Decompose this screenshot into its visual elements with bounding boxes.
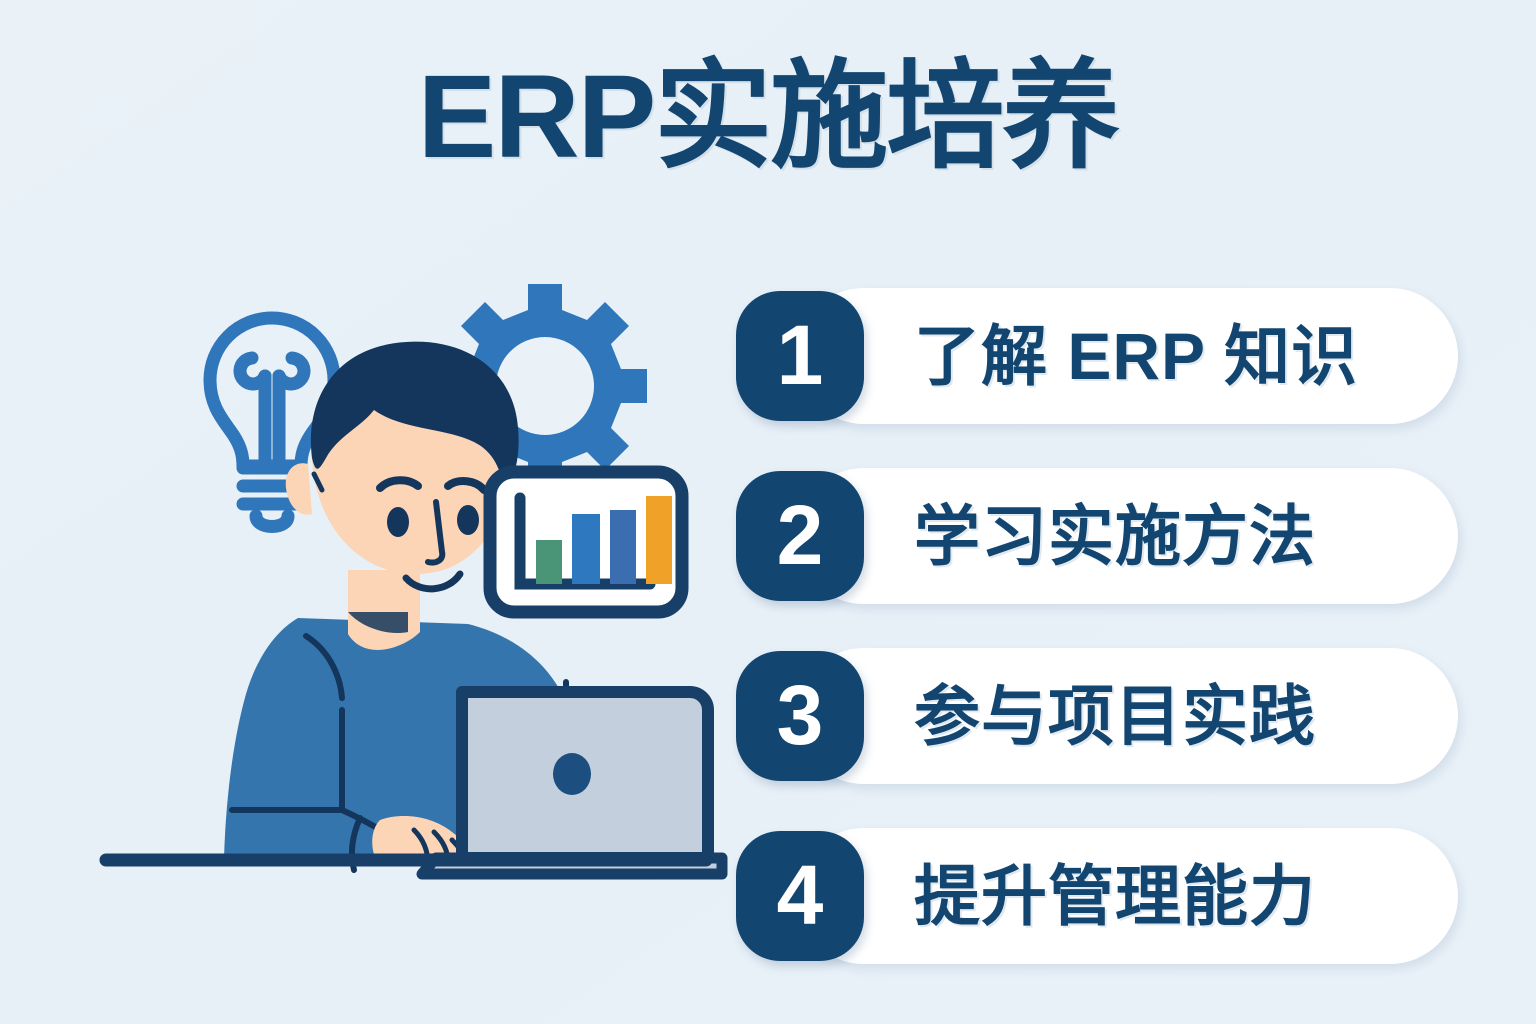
step-number: 2 [736, 471, 864, 601]
laptop-logo [553, 753, 591, 795]
list-item[interactable]: 2 学习实施方法 [736, 468, 1466, 604]
illustration-group [80, 240, 730, 900]
step-label: 学习实施方法 [914, 468, 1316, 604]
list-item[interactable]: 1 了解 ERP 知识 [736, 288, 1466, 424]
bar-chart-icon [490, 472, 682, 612]
step-number: 1 [736, 291, 864, 421]
chart-bar-1 [536, 540, 562, 584]
poster-canvas: ERP实施培养 [0, 0, 1536, 1024]
chart-bar-2 [572, 514, 600, 584]
step-number: 3 [736, 651, 864, 781]
step-badge: 1 [736, 291, 864, 421]
chart-bar-3 [610, 510, 636, 584]
steps-list: 1 了解 ERP 知识 2 学习实施方法 3 参与项目实践 4 提升管理能力 [736, 288, 1466, 1008]
list-item[interactable]: 4 提升管理能力 [736, 828, 1466, 964]
step-label: 了解 ERP 知识 [914, 288, 1358, 424]
page-title: ERP实施培养 [0, 58, 1536, 176]
step-badge: 2 [736, 471, 864, 601]
list-item[interactable]: 3 参与项目实践 [736, 648, 1466, 784]
chart-bar-4 [646, 496, 672, 584]
step-badge: 3 [736, 651, 864, 781]
step-badge: 4 [736, 831, 864, 961]
laptop-illustration [422, 692, 722, 874]
step-label: 参与项目实践 [914, 648, 1316, 784]
step-label: 提升管理能力 [914, 828, 1316, 964]
step-number: 4 [736, 831, 864, 961]
